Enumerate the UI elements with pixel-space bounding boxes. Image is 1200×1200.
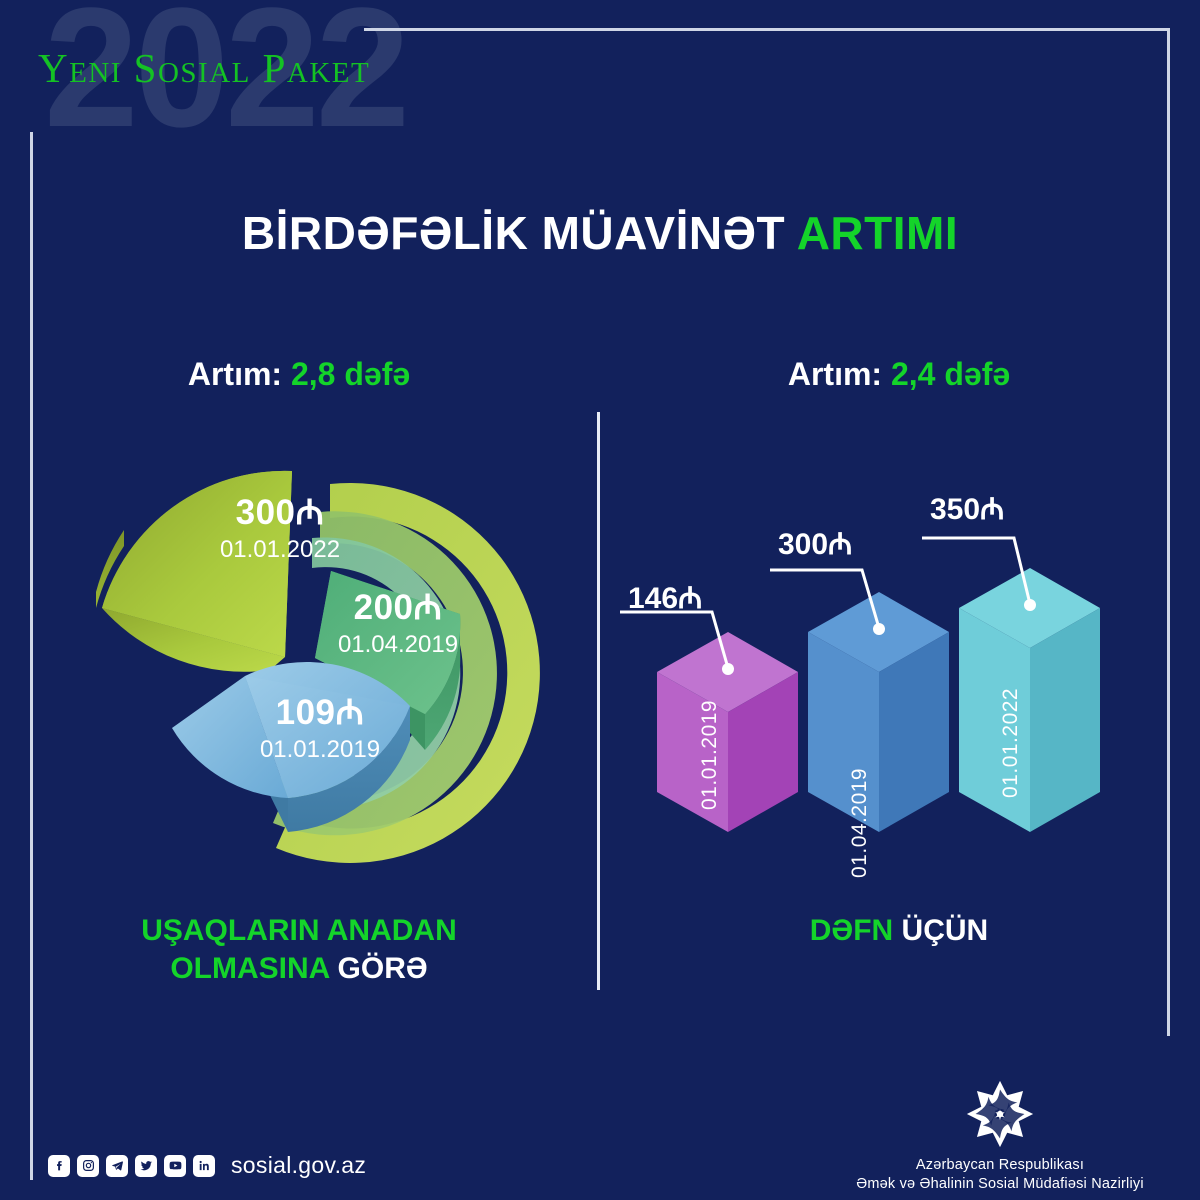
facebook-icon[interactable]	[48, 1155, 70, 1177]
pie-chart: 300₼ 01.01.2022 200₼ 01.04.2019 109₼ 01.…	[80, 418, 550, 878]
page-title: BİRDƏFƏLİK MÜAVİNƏT ARTIMI	[0, 206, 1200, 260]
left-growth-subtitle: Artım: 2,8 dəfə	[0, 356, 598, 393]
right-growth-label: Artım:	[788, 356, 891, 392]
website-url[interactable]: sosial.gov.az	[231, 1152, 366, 1179]
bar-date-146: 01.01.2019	[698, 700, 722, 810]
bar-value-146: 146₼	[628, 576, 702, 617]
right-growth-value: 2,4 dəfə	[891, 356, 1010, 392]
bar-date-300: 01.04.2019	[848, 768, 872, 878]
ministry-branding: Azərbaycan Respublikası Əmək və Əhalinin…	[830, 1078, 1170, 1194]
ministry-star-logo	[964, 1078, 1036, 1150]
frame-left-rule	[30, 132, 33, 1180]
bar-chart-svg	[612, 480, 1152, 880]
frame-top-rule	[364, 28, 1170, 31]
right-caption-green: DƏFN	[810, 914, 902, 947]
left-growth-value: 2,8 dəfə	[291, 356, 410, 392]
bar-value-350: 350₼	[930, 487, 1004, 528]
left-panel-caption: UŞAQLARIN ANADAN OLMASINA GÖRƏ	[0, 912, 598, 988]
brand-script-title: Yeni Sosial Paket	[38, 44, 370, 92]
social-links[interactable]: sosial.gov.az	[48, 1152, 366, 1179]
frame-right-rule	[1167, 28, 1170, 1036]
linkedin-icon[interactable]	[193, 1155, 215, 1177]
left-caption-white: GÖRƏ	[338, 952, 428, 985]
ministry-name: Azərbaycan Respublikası Əmək və Əhalinin…	[830, 1156, 1170, 1194]
bar-value-300: 300₼	[778, 522, 852, 563]
left-growth-label: Artım:	[188, 356, 291, 392]
youtube-icon[interactable]	[164, 1155, 186, 1177]
pie-chart-svg	[80, 418, 550, 878]
page-title-accent: ARTIMI	[797, 207, 958, 259]
infographic-canvas: 2022 Yeni Sosial Paket BİRDƏFƏLİK MÜAVİN…	[0, 0, 1200, 1200]
right-panel-caption: DƏFN ÜÇÜN	[598, 912, 1200, 950]
telegram-icon[interactable]	[106, 1155, 128, 1177]
panel-divider	[597, 412, 600, 990]
bar-date-350: 01.01.2022	[999, 688, 1023, 798]
twitter-icon[interactable]	[135, 1155, 157, 1177]
instagram-icon[interactable]	[77, 1155, 99, 1177]
right-caption-white: ÜÇÜN	[902, 914, 989, 947]
right-growth-subtitle: Artım: 2,4 dəfə	[598, 356, 1200, 393]
bar-chart: 146₼ 300₼ 350₼ 01.01.2019 01.04.2019 01.…	[612, 480, 1152, 880]
page-title-main: BİRDƏFƏLİK MÜAVİNƏT	[242, 207, 797, 259]
